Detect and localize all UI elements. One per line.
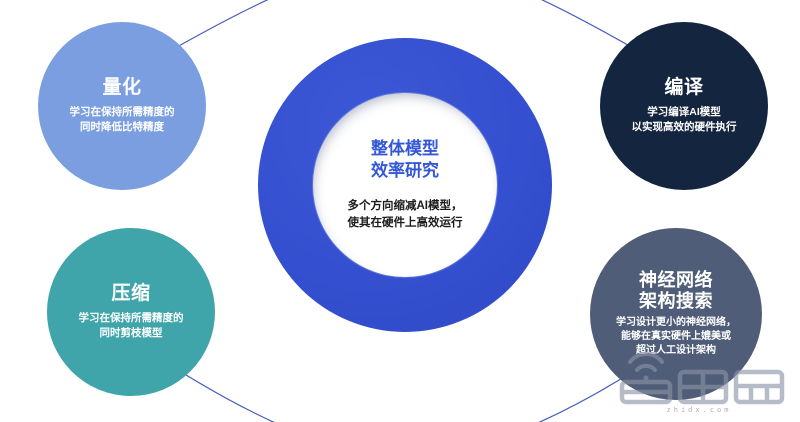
node-nas-title: 神经网络 架构搜索 [639,270,713,310]
node-compilation-description: 学习编译AI模型 以实现高效的硬件执行 [616,105,753,135]
center-title: 整体模型 效率研究 [371,138,439,182]
node-quantization-description: 学习在保持所需精度的 同时降低比特精度 [56,105,189,135]
node-compression-title: 压缩 [111,283,150,304]
center-content: 整体模型 效率研究 多个方向缩减AI模型， 使其在硬件上高效运行 [313,93,497,277]
connector-nas [398,372,632,422]
node-compression[interactable]: 压缩 学习在保持所需精度的 同时剪枝模型 [47,228,215,396]
node-compilation[interactable]: 编译 学习编译AI模型 以实现高效的硬件执行 [600,22,768,190]
watermark: zhidx.com [606,342,792,416]
node-compilation-title: 编译 [664,77,703,98]
node-quantization-title: 量化 [102,77,141,98]
node-quantization[interactable]: 量化 学习在保持所需精度的 同时降低比特精度 [38,22,206,190]
center-description: 多个方向缩减AI模型， 使其在硬件上高效运行 [348,198,463,233]
watermark-site: zhidx.com [606,406,792,414]
watermark-logo-icon [606,342,792,408]
diagram-canvas: 整体模型 效率研究 多个方向缩减AI模型， 使其在硬件上高效运行 量化 学习在保… [0,0,800,422]
connector-compression [178,370,412,422]
node-compression-description: 学习在保持所需精度的 同时剪枝模型 [65,311,198,341]
